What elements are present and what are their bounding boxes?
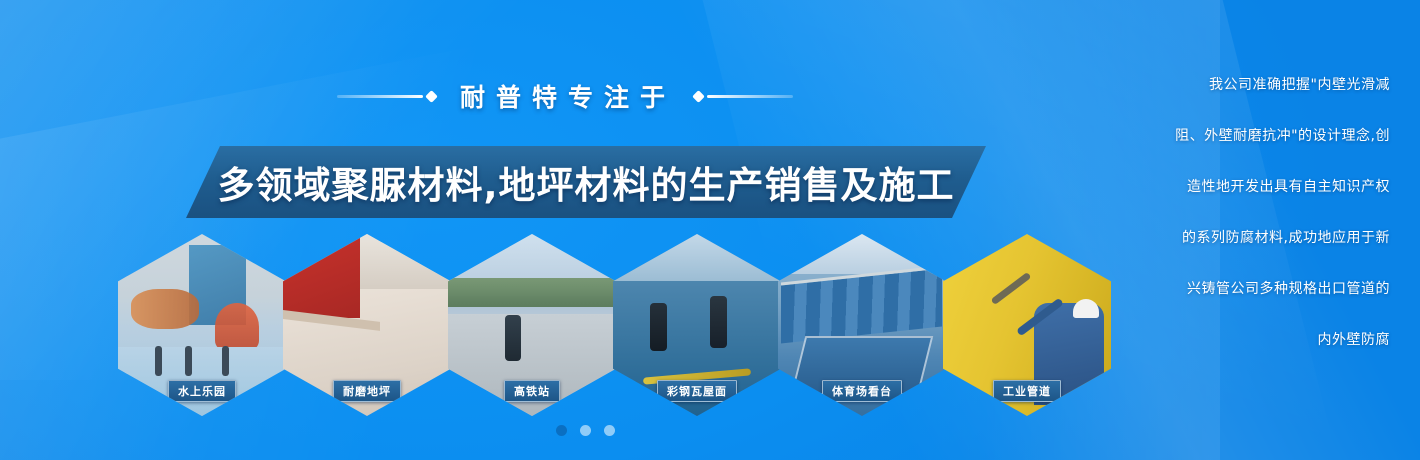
product-caption: 体育场看台 <box>822 380 902 402</box>
headline-plaque-shape: 多领域聚脲材料,地坪材料的生产销售及施工 <box>186 146 986 218</box>
product-caption: 高铁站 <box>504 380 560 402</box>
decorative-line-left <box>337 92 440 101</box>
hero-banner: 耐普特专注于 多领域聚脲材料,地坪材料的生产销售及施工 水上乐园 耐磨地坪 <box>0 0 1420 460</box>
product-caption: 工业管道 <box>993 380 1061 402</box>
description-line: 造性地开发出具有自主知识产权 <box>1170 180 1390 194</box>
carousel-dot-3[interactable] <box>604 425 615 436</box>
description-line: 兴铸管公司多种规格出口管道的 <box>1170 282 1390 296</box>
eyebrow-headline: 耐普特专注于 <box>0 74 1130 118</box>
description-line: 内外壁防腐 <box>1170 333 1390 347</box>
product-caption: 耐磨地坪 <box>333 380 401 402</box>
decorative-diamond-icon <box>692 90 705 103</box>
headline-plaque: 多领域聚脲材料,地坪材料的生产销售及施工 <box>186 146 986 218</box>
carousel-dot-1[interactable] <box>556 425 567 436</box>
headline-text: 多领域聚脲材料,地坪材料的生产销售及施工 <box>217 155 954 209</box>
decorative-bar <box>337 95 423 98</box>
decorative-line-right <box>690 92 793 101</box>
carousel-pagination <box>0 425 1170 436</box>
description-column: 我公司准确把握"内壁光滑减 阻、外壁耐磨抗冲"的设计理念,创 造性地开发出具有自… <box>1170 78 1390 347</box>
product-card-wear-resistant-floor[interactable]: 耐磨地坪 <box>283 234 451 416</box>
product-caption: 水上乐园 <box>168 380 236 402</box>
product-card-railway-station[interactable]: 高铁站 <box>448 234 616 416</box>
product-card-stadium-stands[interactable]: 体育场看台 <box>778 234 946 416</box>
product-showcase-row: 水上乐园 耐磨地坪 高铁站 彩钢瓦屋面 体育场看台 <box>118 234 1078 416</box>
description-line: 阻、外壁耐磨抗冲"的设计理念,创 <box>1170 129 1390 143</box>
eyebrow-text: 耐普特专注于 <box>454 78 676 114</box>
product-card-industrial-piping[interactable]: 工业管道 <box>943 234 1111 416</box>
description-line: 的系列防腐材料,成功地应用于新 <box>1170 231 1390 245</box>
product-card-steel-tile-roof[interactable]: 彩钢瓦屋面 <box>613 234 781 416</box>
decorative-diamond-icon <box>425 90 438 103</box>
product-caption: 彩钢瓦屋面 <box>657 380 737 402</box>
product-card-water-park[interactable]: 水上乐园 <box>118 234 286 416</box>
description-line: 我公司准确把握"内壁光滑减 <box>1170 78 1390 92</box>
decorative-bar <box>707 95 793 98</box>
carousel-dot-2[interactable] <box>580 425 591 436</box>
